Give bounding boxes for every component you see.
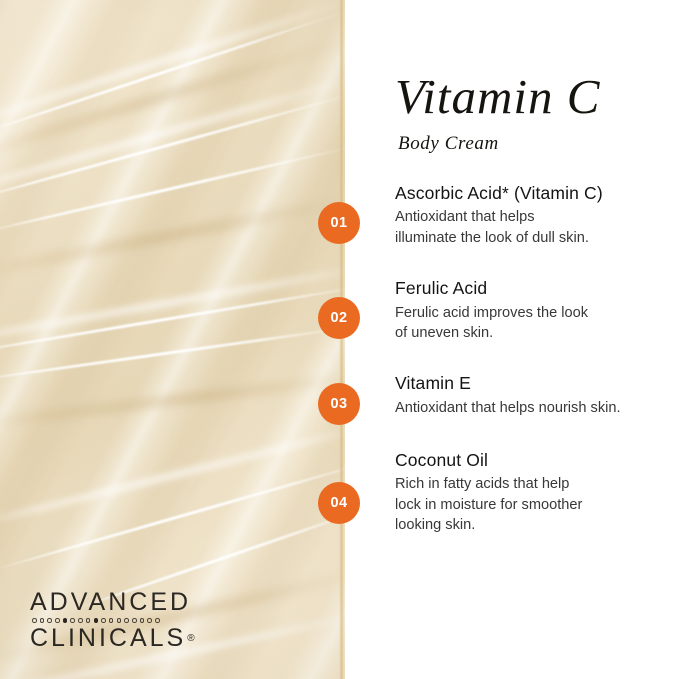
ingredient-title: Ferulic Acid <box>395 278 671 299</box>
product-subtitle: Body Cream <box>398 133 675 155</box>
logo-dot <box>155 618 160 623</box>
ingredient-title: Ascorbic Acid* (Vitamin C) <box>395 183 671 204</box>
ingredient-description-line: Antioxidant that helps <box>395 207 671 227</box>
brand-logo-line-2: CLINICALS <box>30 625 186 651</box>
brand-logo: ADVANCED CLINICALS ® <box>30 589 195 651</box>
ingredient-title: Coconut Oil <box>395 450 671 471</box>
ingredient-description-line: Ferulic acid improves the look <box>395 303 671 323</box>
logo-dot <box>117 618 122 623</box>
logo-dot <box>124 618 129 623</box>
logo-dot <box>140 618 145 623</box>
brand-logo-dot-row <box>32 617 195 624</box>
ingredient-description-line: looking skin. <box>395 515 671 535</box>
ingredient-badge-03: 03 <box>318 383 360 425</box>
logo-dot <box>47 618 52 623</box>
logo-dot <box>109 618 114 623</box>
ingredient-description-line: of uneven skin. <box>395 323 671 343</box>
logo-dot <box>70 618 75 623</box>
ingredient-description-line: illuminate the look of dull skin. <box>395 228 671 248</box>
logo-dot-filled <box>94 618 99 623</box>
ingredient-description: Rich in fatty acids that help lock in mo… <box>395 474 671 535</box>
logo-dot <box>101 618 106 623</box>
page-title: Vitamin C <box>395 72 675 121</box>
logo-dot <box>78 618 83 623</box>
ingredient-description-line: Rich in fatty acids that help <box>395 474 671 494</box>
logo-dot <box>132 618 137 623</box>
logo-dot-filled <box>63 618 68 623</box>
ingredient-description: Ferulic acid improves the look of uneven… <box>395 303 671 344</box>
title-block: Vitamin C Body Cream <box>395 72 675 155</box>
brand-logo-line-1: ADVANCED <box>30 589 195 615</box>
list-item: Coconut Oil Rich in fatty acids that hel… <box>395 450 671 536</box>
ingredient-list: Ascorbic Acid* (Vitamin C) Antioxidant t… <box>395 183 671 557</box>
ingredient-description: Antioxidant that helps nourish skin. <box>395 398 671 418</box>
ingredient-description-line: Antioxidant that helps nourish skin. <box>395 398 671 418</box>
cream-texture-photo <box>0 0 345 679</box>
ingredient-description: Antioxidant that helps illuminate the lo… <box>395 207 671 248</box>
list-item: Ascorbic Acid* (Vitamin C) Antioxidant t… <box>395 183 671 248</box>
product-infographic: ADVANCED CLINICALS ® Vitami <box>0 0 679 679</box>
ingredient-title: Vitamin E <box>395 373 671 394</box>
ingredient-badge-01: 01 <box>318 202 360 244</box>
logo-dot <box>147 618 152 623</box>
list-item: Vitamin E Antioxidant that helps nourish… <box>395 373 671 418</box>
logo-dot <box>40 618 45 623</box>
logo-dot <box>86 618 91 623</box>
ingredient-badge-04: 04 <box>318 482 360 524</box>
brand-logo-line-2-group: CLINICALS ® <box>30 625 195 651</box>
list-item: Ferulic Acid Ferulic acid improves the l… <box>395 278 671 343</box>
logo-dot <box>32 618 37 623</box>
photo-vignette <box>0 0 345 679</box>
logo-dot <box>55 618 60 623</box>
registered-trademark-mark: ® <box>187 634 194 644</box>
ingredient-description-line: lock in moisture for smoother <box>395 495 671 515</box>
info-panel: Vitamin C Body Cream Ascorbic Acid* (Vit… <box>345 0 679 679</box>
ingredient-badge-02: 02 <box>318 297 360 339</box>
